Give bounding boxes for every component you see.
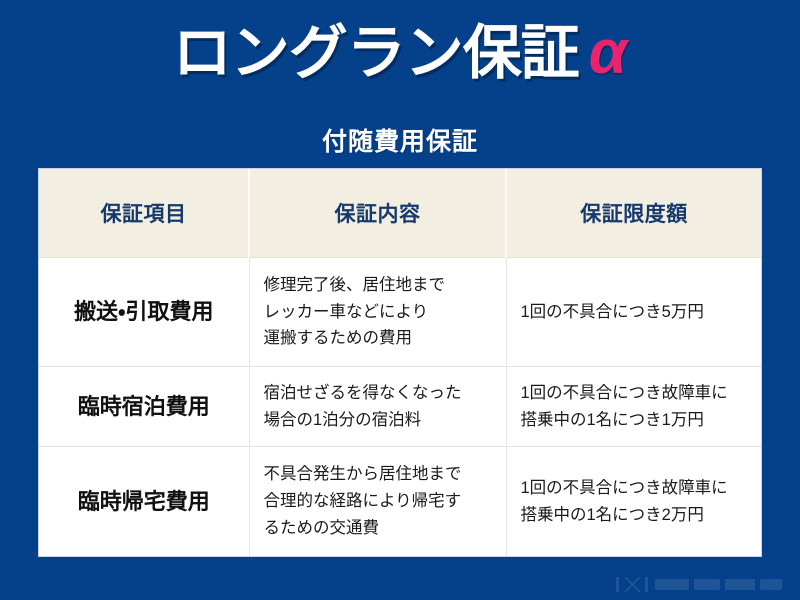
table-row: 搬送・引取費用 修理完了後、居住地まで レッカー車などにより 運搬するための費用… (39, 257, 761, 367)
page-title: ロングラン保証α (0, 22, 800, 84)
cell-limit: 1回の不具合につき故障車に 搭乗中の1名につき1万円 (506, 367, 761, 447)
detail-line: 修理完了後、居住地まで (264, 272, 492, 299)
table-header: 保証項目 保証内容 保証限度額 (39, 169, 761, 257)
cell-item: 臨時宿泊費用 (39, 367, 249, 447)
title-main-text: ロングラン保証 (173, 24, 579, 83)
cell-detail: 不具合発生から居住地まで 合理的な経路により帰宅す るための交通費 (249, 447, 506, 556)
limit-line: 1回の不具合につき故障車に (521, 475, 748, 502)
detail-line: 場合の1泊分の宿泊料 (264, 407, 492, 434)
cell-item: 搬送・引取費用 (39, 257, 249, 367)
detail-line: るための交通費 (264, 515, 492, 542)
detail-line: 運搬するための費用 (264, 325, 492, 352)
detail-line: レッカー車などにより (264, 299, 492, 326)
watermark (616, 577, 782, 592)
column-header-limit: 保証限度額 (506, 169, 761, 257)
table-body: 搬送・引取費用 修理完了後、居住地まで レッカー車などにより 運搬するための費用… (39, 257, 761, 556)
cell-detail: 宿泊せざるを得なくなった 場合の1泊分の宿泊料 (249, 367, 506, 447)
table-row: 臨時宿泊費用 宿泊せざるを得なくなった 場合の1泊分の宿泊料 1回の不具合につき… (39, 367, 761, 447)
column-header-detail: 保証内容 (249, 169, 506, 257)
table-header-row: 保証項目 保証内容 保証限度額 (39, 169, 761, 257)
table-row: 臨時帰宅費用 不具合発生から居住地まで 合理的な経路により帰宅す るための交通費… (39, 447, 761, 556)
watermark-logo-icon (616, 577, 648, 592)
slide-root: ロングラン保証α 付随費用保証 保証項目 保証内容 保証限度額 搬送・引取費用 … (0, 0, 800, 600)
cell-item: 臨時帰宅費用 (39, 447, 249, 556)
guarantee-table: 保証項目 保証内容 保証限度額 搬送・引取費用 修理完了後、居住地まで レッカー… (39, 169, 761, 556)
watermark-text-placeholder (655, 579, 782, 590)
detail-line: 不具合発生から居住地まで (264, 461, 492, 488)
limit-line: 1回の不具合につき故障車に (521, 380, 748, 407)
cell-limit: 1回の不具合につき故障車に 搭乗中の1名につき2万円 (506, 447, 761, 556)
cell-detail: 修理完了後、居住地まで レッカー車などにより 運搬するための費用 (249, 257, 506, 367)
limit-line: 1回の不具合につき5万円 (521, 299, 748, 326)
limit-line: 搭乗中の1名につき1万円 (521, 407, 748, 434)
title-alpha-symbol: α (589, 22, 627, 84)
column-header-item: 保証項目 (39, 169, 249, 257)
page-subtitle: 付随費用保証 (0, 129, 800, 157)
guarantee-table-container: 保証項目 保証内容 保証限度額 搬送・引取費用 修理完了後、居住地まで レッカー… (38, 168, 762, 557)
limit-line: 搭乗中の1名につき2万円 (521, 502, 748, 529)
cell-limit: 1回の不具合につき5万円 (506, 257, 761, 367)
detail-line: 宿泊せざるを得なくなった (264, 380, 492, 407)
detail-line: 合理的な経路により帰宅す (264, 488, 492, 515)
